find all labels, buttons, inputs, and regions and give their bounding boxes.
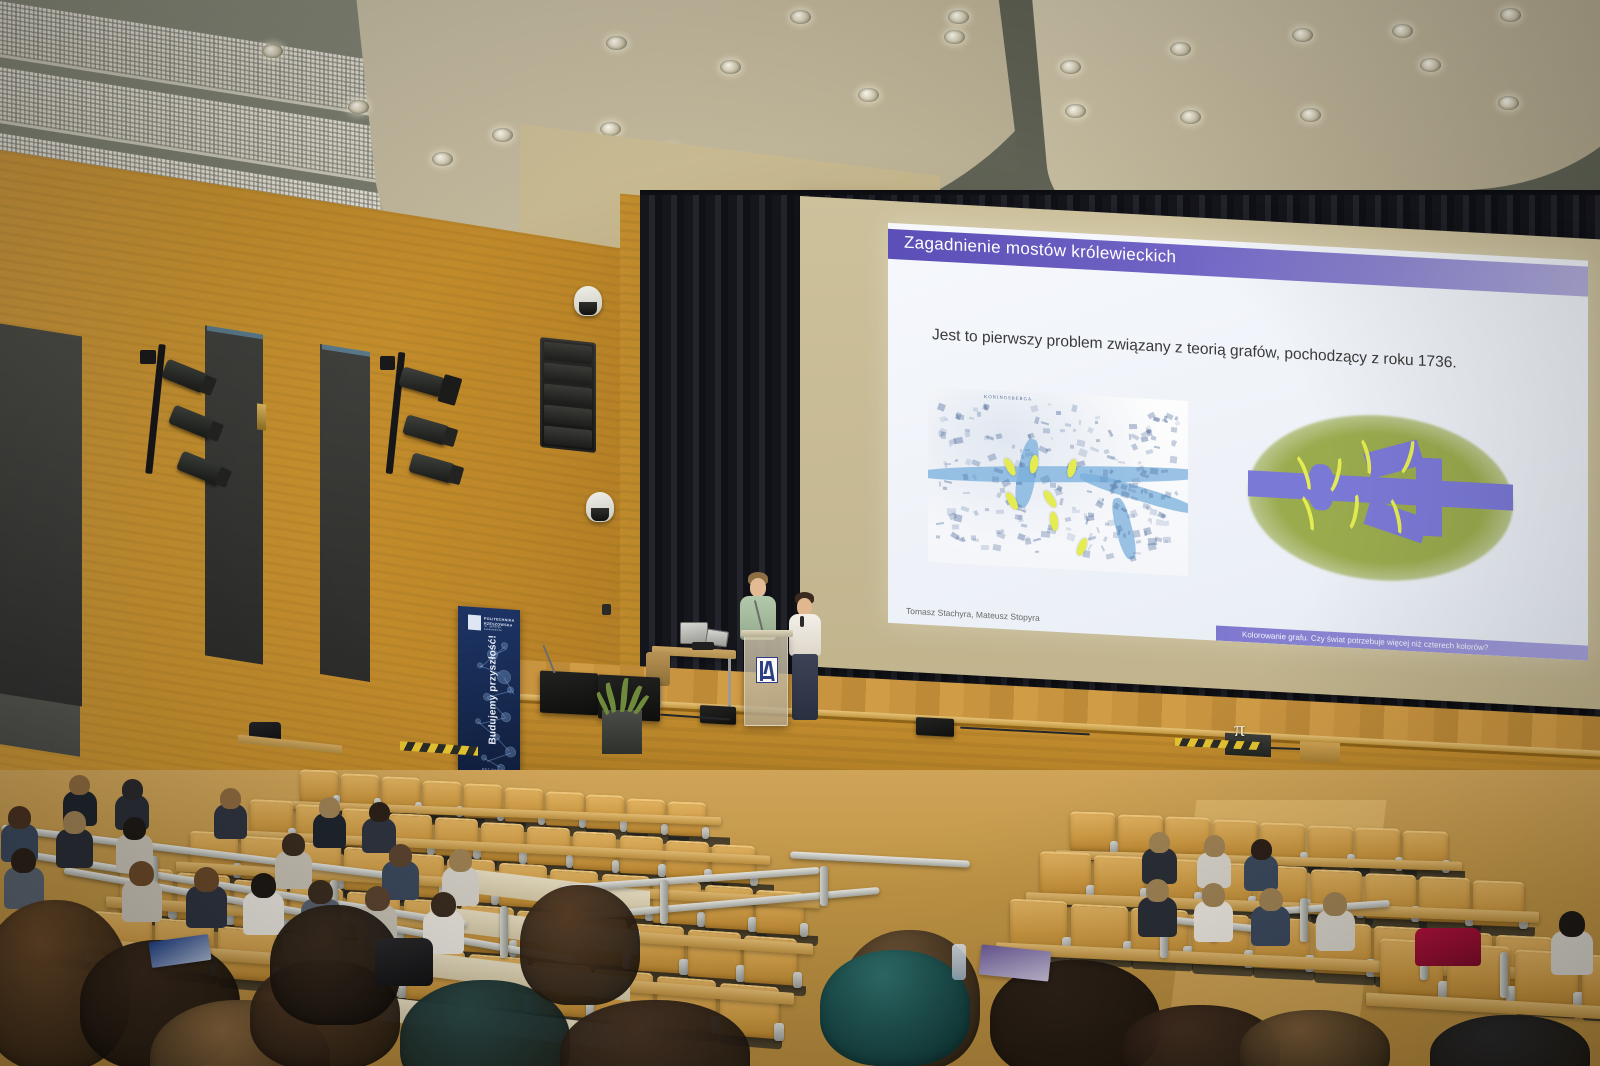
map-building: [996, 434, 1003, 440]
map-building: [1051, 437, 1054, 440]
audience-member-head: [129, 861, 154, 886]
backpack: [375, 938, 433, 986]
audience-member-head: [1323, 892, 1347, 916]
map-building: [1174, 421, 1180, 426]
map-building: [954, 459, 958, 462]
schematic-river-branch: [1416, 457, 1442, 536]
seat-armrest: [793, 972, 802, 988]
foreground-head-teal: [820, 950, 970, 1066]
map-building: [1148, 493, 1153, 499]
map-building: [1019, 449, 1022, 454]
map-building: [1137, 461, 1141, 465]
map-building: [1087, 426, 1094, 433]
map-building: [1163, 537, 1172, 544]
map-building: [1066, 527, 1071, 531]
audience-member-body: [56, 829, 93, 868]
map-building: [1067, 533, 1077, 542]
map-building: [1031, 405, 1039, 413]
map-building: [1149, 509, 1157, 517]
map-building: [1110, 457, 1118, 461]
audience-member-body: [214, 804, 248, 839]
pi-symbol: π: [1234, 716, 1245, 742]
downlight: [432, 152, 453, 166]
confidence-monitor: [680, 622, 708, 644]
map-building: [1040, 422, 1048, 426]
downlight: [1180, 110, 1201, 124]
downlight: [1060, 60, 1081, 74]
speaker-cabinet: [540, 670, 598, 715]
map-building: [936, 535, 940, 538]
downlight: [492, 128, 513, 142]
slide-footer-title: Kolorowanie grafu. Czy świat potrzebuje …: [1242, 629, 1488, 651]
audience-member-head: [1259, 888, 1283, 912]
map-building: [980, 545, 989, 550]
audience-member-head: [251, 873, 276, 898]
ptz-camera: [586, 492, 614, 522]
map-building: [1150, 467, 1158, 474]
map-building: [1101, 545, 1106, 552]
map-building: [1071, 405, 1077, 413]
lecture-hall-photo: Zagadnienie mostów królewieckich Jest to…: [0, 0, 1600, 1066]
map-building: [965, 458, 972, 465]
audience-member-head: [123, 817, 146, 840]
downlight: [720, 60, 741, 74]
map-building: [1059, 498, 1063, 505]
line-array-speaker: [540, 337, 596, 453]
map-building: [991, 476, 999, 483]
map-building: [1170, 456, 1178, 464]
map-building: [960, 506, 969, 512]
map-building: [1070, 445, 1074, 449]
auditorium-seat: [1040, 851, 1091, 899]
lectern-top: [741, 630, 793, 637]
audience-member-body: [1244, 855, 1278, 891]
map-building: [1059, 429, 1064, 433]
map-building: [1048, 404, 1051, 407]
potted-plant: [594, 672, 650, 734]
map-building: [996, 532, 1006, 540]
map-building: [1065, 423, 1071, 427]
rail-post: [820, 866, 828, 906]
slide-figures: KONINGSBERGA: [928, 385, 1548, 599]
audience-member-head: [11, 848, 36, 873]
map-building: [973, 510, 979, 516]
downlight: [262, 44, 283, 58]
audience-member-head: [282, 833, 305, 856]
audience-member-head: [1149, 832, 1170, 853]
audience-member-body: [1316, 910, 1355, 950]
rail-post: [1500, 952, 1508, 998]
downlight: [1500, 8, 1521, 22]
map-building: [1150, 436, 1156, 442]
downlight: [1300, 108, 1321, 122]
map-building: [1104, 449, 1110, 454]
audience-member-head: [389, 844, 412, 867]
map-building: [1043, 428, 1050, 433]
downlight: [858, 88, 879, 102]
audience-member-body: [313, 813, 347, 848]
seat-armrest: [661, 824, 668, 836]
map-building: [983, 436, 988, 441]
map-building: [1140, 436, 1148, 442]
wall-recess-bay: [320, 344, 370, 682]
map-building: [1016, 482, 1022, 485]
auditorium-seat: [1070, 811, 1115, 853]
audience-member-head: [8, 806, 31, 829]
map-building: [944, 480, 953, 484]
seat-armrest: [612, 860, 620, 873]
downlight: [1170, 42, 1191, 56]
map-building: [985, 509, 989, 512]
audience-member-head: [431, 892, 456, 917]
presentation-slide: Zagadnienie mostów królewieckich Jest to…: [888, 223, 1588, 661]
audience-member-body: [1251, 906, 1290, 946]
map-building: [1100, 476, 1109, 483]
audience-member-body: [275, 851, 312, 890]
map-building: [968, 416, 973, 419]
table-leg: [728, 658, 731, 710]
map-building: [1136, 540, 1142, 544]
audience-member-head: [1251, 839, 1272, 860]
map-building: [1065, 517, 1071, 522]
slide-footer-authors: Tomasz Stachyra, Mateusz Stopyra: [906, 606, 1040, 623]
map-building: [1133, 552, 1141, 555]
map-building: [1149, 518, 1151, 523]
audience-member-head: [122, 779, 143, 800]
audience-member-head: [194, 867, 219, 892]
seat-armrest: [697, 912, 706, 927]
map-building: [1126, 514, 1135, 519]
konigsberg-historic-map: KONINGSBERGA: [928, 387, 1188, 576]
map-building: [1174, 491, 1179, 496]
audience-member-head: [449, 849, 472, 872]
downlight: [790, 10, 811, 24]
map-building: [937, 403, 946, 412]
map-building: [1118, 461, 1125, 464]
laptop-base: [692, 642, 714, 650]
wall-recess-bay: [0, 324, 82, 707]
map-building: [1105, 553, 1114, 560]
map-building: [1073, 429, 1077, 432]
foreground-head: [520, 885, 640, 1005]
map-building: [1017, 514, 1023, 521]
map-building: [1021, 523, 1027, 527]
map-building: [1146, 430, 1153, 437]
map-building: [1096, 439, 1100, 442]
map-building: [1120, 491, 1129, 499]
wall-recess-bay: [205, 325, 263, 664]
map-building: [1025, 538, 1032, 544]
handheld-microphone: [800, 616, 804, 627]
map-building: [1143, 531, 1147, 536]
banner-slogan: Budujemy przyszłość!: [488, 624, 499, 755]
map-caption: KONINGSBERGA: [984, 394, 1032, 402]
wall-sensor: [602, 604, 611, 615]
red-jacket: [1415, 928, 1481, 966]
plant-pot: [602, 710, 642, 754]
map-building: [1107, 430, 1113, 437]
downlight: [1392, 24, 1413, 38]
map-building: [1046, 448, 1052, 452]
map-building: [1034, 416, 1039, 423]
audience-member-body: [186, 886, 226, 928]
map-building: [1129, 556, 1136, 562]
ceiling-speaker: [574, 286, 602, 316]
audience-member-head: [1559, 911, 1585, 937]
audience-member-body: [1194, 901, 1233, 941]
map-building: [1117, 530, 1120, 536]
audience-member-head: [1204, 835, 1225, 856]
map-building: [945, 463, 951, 465]
map-building: [964, 432, 970, 438]
map-building: [1096, 527, 1100, 533]
map-building: [1087, 544, 1092, 551]
map-building: [999, 488, 1005, 494]
audience-member-head: [220, 788, 241, 809]
map-building: [1079, 420, 1082, 425]
map-building: [993, 544, 1002, 551]
audience-member-head: [1146, 879, 1170, 903]
map-building: [1094, 421, 1098, 424]
map-building: [1087, 490, 1092, 493]
map-building: [1056, 411, 1062, 415]
audience-member-head: [63, 811, 86, 834]
downlight: [1420, 58, 1441, 72]
downlight: [1498, 96, 1519, 110]
university-logo: [756, 657, 778, 683]
map-building: [1171, 440, 1177, 447]
map-building: [943, 487, 947, 491]
lectern: [744, 634, 788, 726]
map-building: [973, 407, 979, 412]
audience-member-body: [1138, 897, 1177, 937]
seat-armrest: [702, 827, 709, 839]
seat-armrest: [658, 864, 666, 877]
seat-armrest: [774, 1023, 784, 1041]
map-building: [1174, 416, 1178, 420]
wall-sconce: [257, 403, 266, 430]
map-building: [1171, 427, 1178, 433]
rail-post: [1300, 898, 1308, 942]
rail-post: [500, 906, 508, 958]
map-building: [1103, 469, 1109, 476]
map-building: [1132, 530, 1141, 538]
audience-member-head: [308, 880, 333, 905]
floor-monitor-wedge: [700, 705, 736, 725]
map-building: [1107, 519, 1115, 526]
map-building: [971, 535, 976, 540]
audience-member-body: [122, 880, 162, 922]
seat-armrest: [800, 923, 809, 938]
map-building: [1050, 482, 1056, 487]
water-bottle: [952, 944, 966, 980]
audience-member-head: [1202, 883, 1226, 907]
map-building: [1077, 439, 1086, 447]
downlight: [348, 100, 369, 114]
audience-member-head: [369, 802, 390, 823]
downlight: [1065, 104, 1086, 118]
map-building: [936, 522, 944, 525]
downlight: [1292, 28, 1313, 42]
wooden-box: [1300, 741, 1340, 763]
map-building: [1131, 444, 1138, 451]
downlight: [944, 30, 965, 44]
map-building: [1156, 519, 1163, 526]
slide-body-text: Jest to pierwszy problem związany z teor…: [932, 323, 1532, 380]
downlight: [606, 36, 627, 50]
map-building: [1034, 551, 1038, 553]
map-building: [1129, 424, 1138, 429]
audience-member-head: [319, 797, 340, 818]
slide-footer-bar: Kolorowanie grafu. Czy świat potrzebuje …: [1216, 626, 1588, 661]
map-building: [1032, 538, 1040, 542]
map-building: [963, 491, 970, 494]
map-building: [1028, 433, 1035, 440]
map-building: [1090, 446, 1099, 452]
map-building: [1078, 448, 1088, 457]
map-building: [1072, 510, 1080, 513]
projection-screen: Zagadnienie mostów królewieckich Jest to…: [800, 196, 1600, 709]
map-building: [1131, 434, 1140, 442]
floor-monitor-wedge: [916, 717, 954, 737]
map-building: [995, 510, 1004, 514]
map-building: [1145, 449, 1153, 455]
map-building: [1154, 445, 1160, 448]
map-building: [1162, 520, 1169, 526]
map-building: [1103, 536, 1107, 541]
map-building: [947, 508, 956, 515]
map-building: [987, 454, 997, 462]
audience-member-body: [1551, 931, 1593, 975]
map-building: [939, 482, 942, 487]
audience-member-head: [365, 886, 390, 911]
map-building: [1012, 445, 1015, 449]
map-building: [1095, 415, 1101, 419]
audience-member-body: [243, 892, 283, 934]
map-building: [954, 437, 964, 445]
map-building: [952, 525, 959, 530]
audience-member-head: [69, 775, 90, 796]
konigsberg-schematic-graph: [1248, 408, 1513, 587]
downlight: [948, 10, 969, 24]
seat-armrest: [620, 820, 627, 832]
map-building: [1161, 469, 1168, 473]
map-building: [977, 411, 981, 416]
rail-post: [660, 880, 668, 924]
map-building: [971, 459, 980, 467]
